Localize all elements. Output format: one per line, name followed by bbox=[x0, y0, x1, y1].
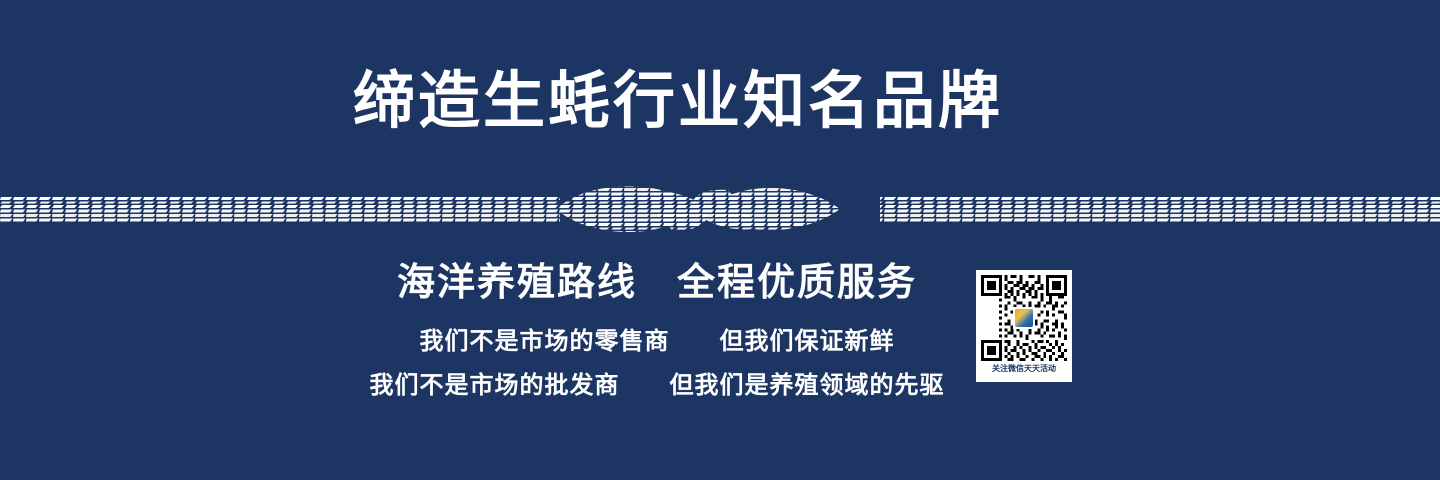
rope-segment-right bbox=[874, 194, 1440, 224]
qr-caption: 关注微信天天活动 bbox=[981, 361, 1067, 377]
rope-segment-left bbox=[0, 194, 580, 224]
qr-code-card[interactable]: 关注微信天天活动 bbox=[976, 270, 1072, 382]
rope-knot-divider bbox=[0, 178, 1440, 240]
body-copy: 我们不是市场的零售商 但我们保证新鲜 我们不是市场的批发商 但我们是养殖领域的先… bbox=[0, 320, 1440, 408]
rope-knot bbox=[540, 178, 860, 240]
qr-code-image[interactable] bbox=[981, 275, 1067, 361]
subheading: 海洋养殖路线 全程优质服务 bbox=[397, 262, 917, 306]
wechat-brand-logo-icon bbox=[1013, 307, 1035, 329]
body-line-2: 我们不是市场的批发商 但我们是养殖领域的先驱 bbox=[0, 364, 1377, 408]
promo-banner: 缔造生蚝行业知名品牌 bbox=[0, 0, 1440, 480]
subheading-container: 海洋养殖路线 全程优质服务 bbox=[0, 262, 1440, 306]
body-line-1: 我们不是市场的零售商 但我们保证新鲜 bbox=[0, 320, 1377, 364]
headline-container: 缔造生蚝行业知名品牌 bbox=[0, 68, 1440, 136]
brand-logo-mark bbox=[1015, 309, 1033, 327]
page-title: 缔造生蚝行业知名品牌 bbox=[353, 68, 1003, 136]
rope-divider-icon bbox=[0, 178, 1440, 240]
